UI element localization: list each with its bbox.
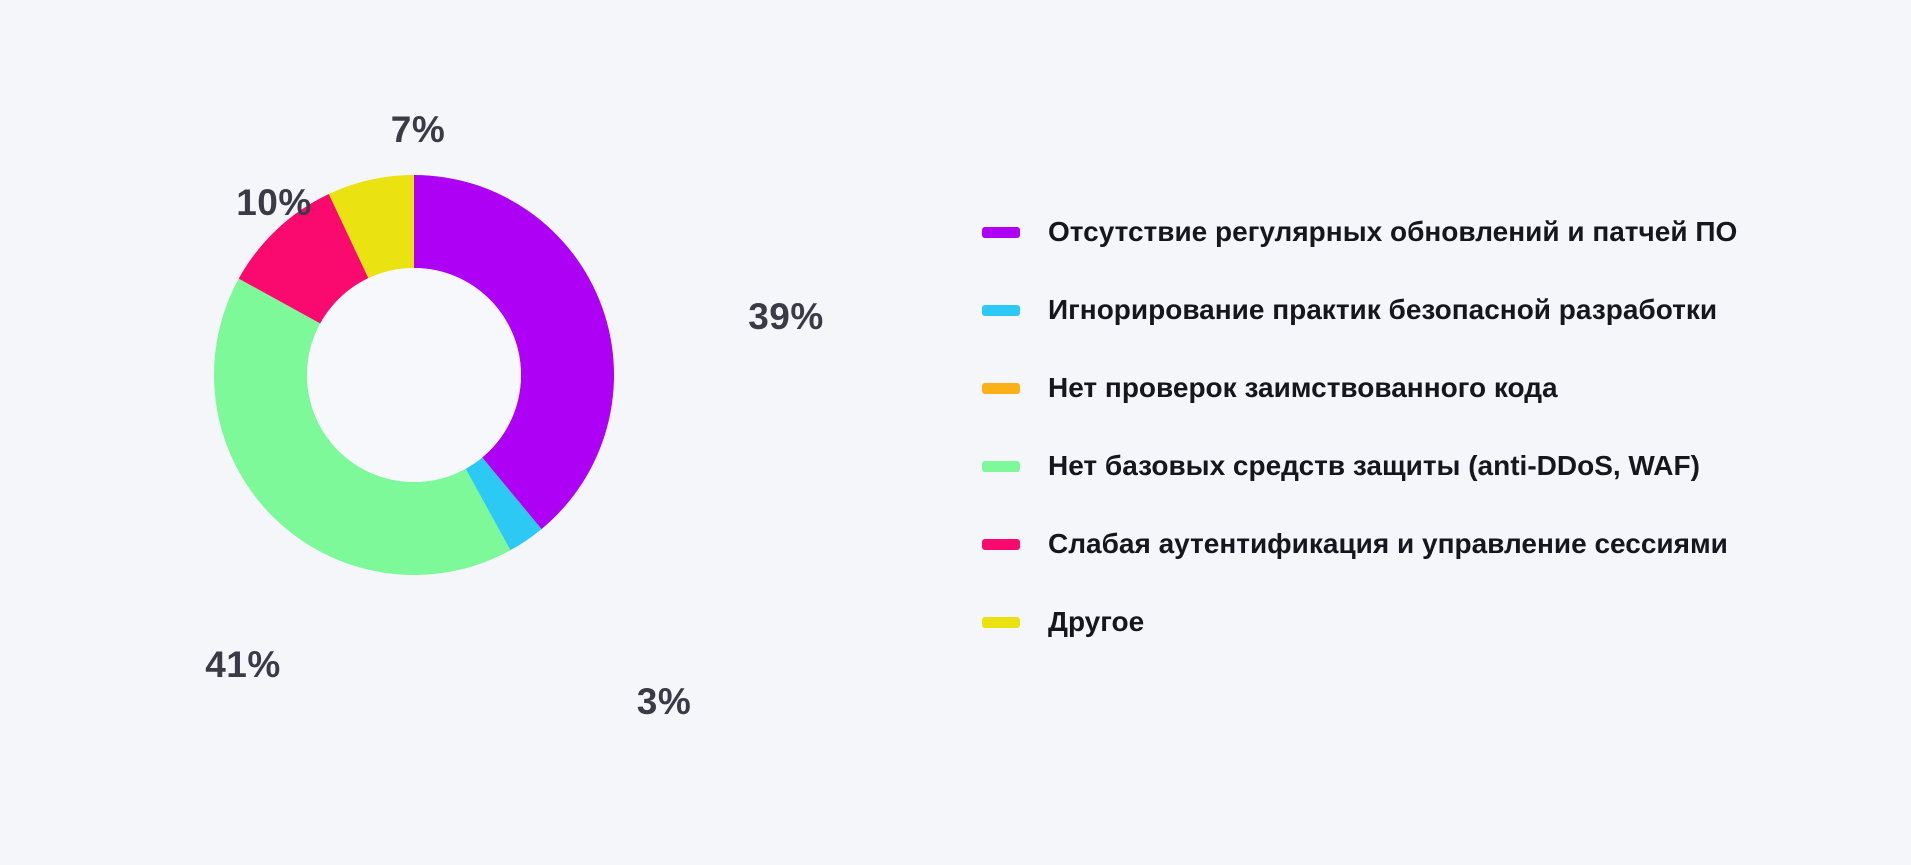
- legend-item[interactable]: Другое: [982, 604, 1862, 640]
- legend-color-swatch-icon: [982, 617, 1020, 628]
- legend-color-swatch-icon: [982, 539, 1020, 550]
- donut-chart: 39%3%41%10%7%: [0, 0, 960, 865]
- donut-slice-value-label: 41%: [205, 644, 281, 686]
- legend-color-swatch-icon: [982, 305, 1020, 316]
- legend-item-label: Отсутствие регулярных обновлений и патче…: [1048, 217, 1737, 248]
- donut-slice-value-label: 7%: [391, 109, 445, 151]
- legend-item[interactable]: Игнорирование практик безопасной разрабо…: [982, 292, 1862, 328]
- legend-item[interactable]: Нет базовых средств защиты (anti-DDoS, W…: [982, 448, 1862, 484]
- chart-legend: Отсутствие регулярных обновлений и патче…: [982, 214, 1862, 640]
- legend-item-label: Игнорирование практик безопасной разрабо…: [1048, 295, 1717, 326]
- donut-hole: [307, 268, 521, 482]
- donut-slice-value-label: 39%: [748, 296, 824, 338]
- legend-color-swatch-icon: [982, 461, 1020, 472]
- legend-item-label: Слабая аутентификация и управление сесси…: [1048, 529, 1728, 560]
- donut-slice-value-label: 10%: [236, 182, 312, 224]
- legend-item[interactable]: Слабая аутентификация и управление сесси…: [982, 526, 1862, 562]
- legend-item-label: Другое: [1048, 607, 1144, 638]
- chart-page: 39%3%41%10%7% Отсутствие регулярных обно…: [0, 0, 1911, 865]
- donut-chart-svg: [0, 0, 960, 865]
- legend-item-label: Нет проверок заимствованного кода: [1048, 373, 1558, 404]
- legend-item[interactable]: Нет проверок заимствованного кода: [982, 370, 1862, 406]
- legend-item-label: Нет базовых средств защиты (anti-DDoS, W…: [1048, 451, 1700, 482]
- legend-color-swatch-icon: [982, 227, 1020, 238]
- legend-item[interactable]: Отсутствие регулярных обновлений и патче…: [982, 214, 1862, 250]
- donut-slice-value-label: 3%: [637, 681, 691, 723]
- legend-color-swatch-icon: [982, 383, 1020, 394]
